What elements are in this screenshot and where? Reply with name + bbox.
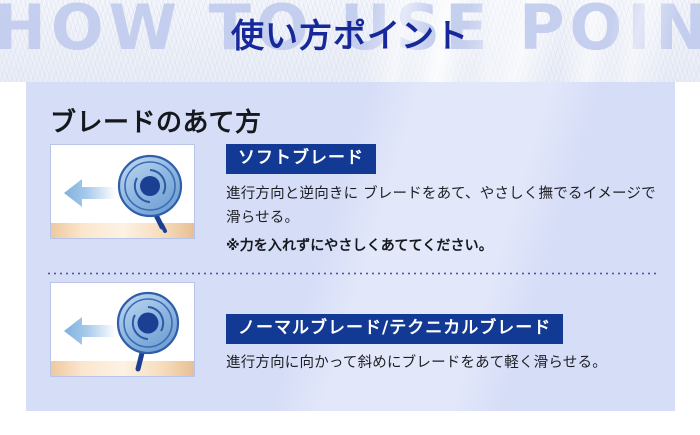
- instruction-content: ノーマルブレード/テクニカルブレード 進行方向に向かって斜めにブレードをあて軽く…: [226, 314, 656, 375]
- instruction-note: ※力を入れずにやさしくあててください。: [226, 234, 656, 258]
- section-divider: [46, 272, 656, 275]
- instruction-description: 進行方向に向かって斜めにブレードをあて軽く滑らせる。: [226, 351, 656, 375]
- content-panel: ブレードのあて方: [26, 82, 675, 411]
- arrow-left-icon: [64, 316, 116, 346]
- blade-type-badge: ノーマルブレード/テクニカルブレード: [226, 314, 563, 344]
- instruction-row: ノーマルブレード/テクニカルブレード 進行方向に向かって斜めにブレードをあて軽く…: [26, 282, 675, 392]
- instruction-content: ソフトブレード 進行方向と逆向きに ブレードをあて、やさしく撫でるイメージで滑ら…: [226, 144, 656, 258]
- arrow-left-icon: [64, 178, 116, 208]
- instruction-row: ソフトブレード 進行方向と逆向きに ブレードをあて、やさしく撫でるイメージで滑ら…: [26, 144, 675, 254]
- panel-heading: ブレードのあて方: [50, 102, 261, 139]
- instruction-description: 進行方向と逆向きに ブレードをあて、やさしく撫でるイメージで滑らせる。: [226, 182, 656, 230]
- page-header: HOW TO USE POINTS 使い方ポイント: [0, 0, 700, 82]
- blade-illustration-soft: [50, 144, 195, 239]
- blade-head-icon: [111, 289, 185, 375]
- blade-type-badge: ソフトブレード: [226, 144, 376, 174]
- blade-head-icon: [114, 153, 188, 237]
- blade-illustration-normal: [50, 282, 195, 377]
- page-title: 使い方ポイント: [0, 14, 700, 58]
